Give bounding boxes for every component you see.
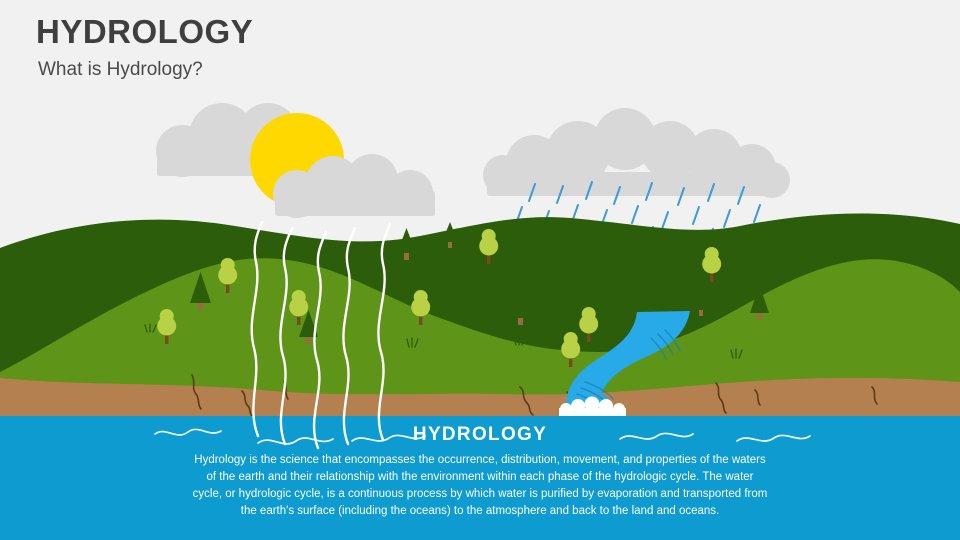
header: HYDROLOGY What is Hydrology? bbox=[36, 14, 253, 81]
caption-heading: HYDROLOGY bbox=[0, 424, 960, 446]
caption-line: cycle, or hydrologic cycle, is a continu… bbox=[140, 486, 820, 503]
caption-line: of the earth and their relationship with… bbox=[140, 469, 820, 486]
caption-block: HYDROLOGY Hydrology is the science that … bbox=[0, 424, 960, 520]
page-subtitle: What is Hydrology? bbox=[38, 60, 253, 81]
evaporation-streams-icon bbox=[252, 222, 390, 448]
caption-line: the earth's surface (including the ocean… bbox=[140, 503, 820, 520]
caption-body: Hydrology is the science that encompasse… bbox=[140, 452, 820, 520]
slide-canvas: HYDROLOGY Hydrology is the science that … bbox=[0, 0, 960, 540]
caption-line: Hydrology is the science that encompasse… bbox=[140, 452, 820, 469]
page-title: HYDROLOGY bbox=[36, 14, 253, 50]
